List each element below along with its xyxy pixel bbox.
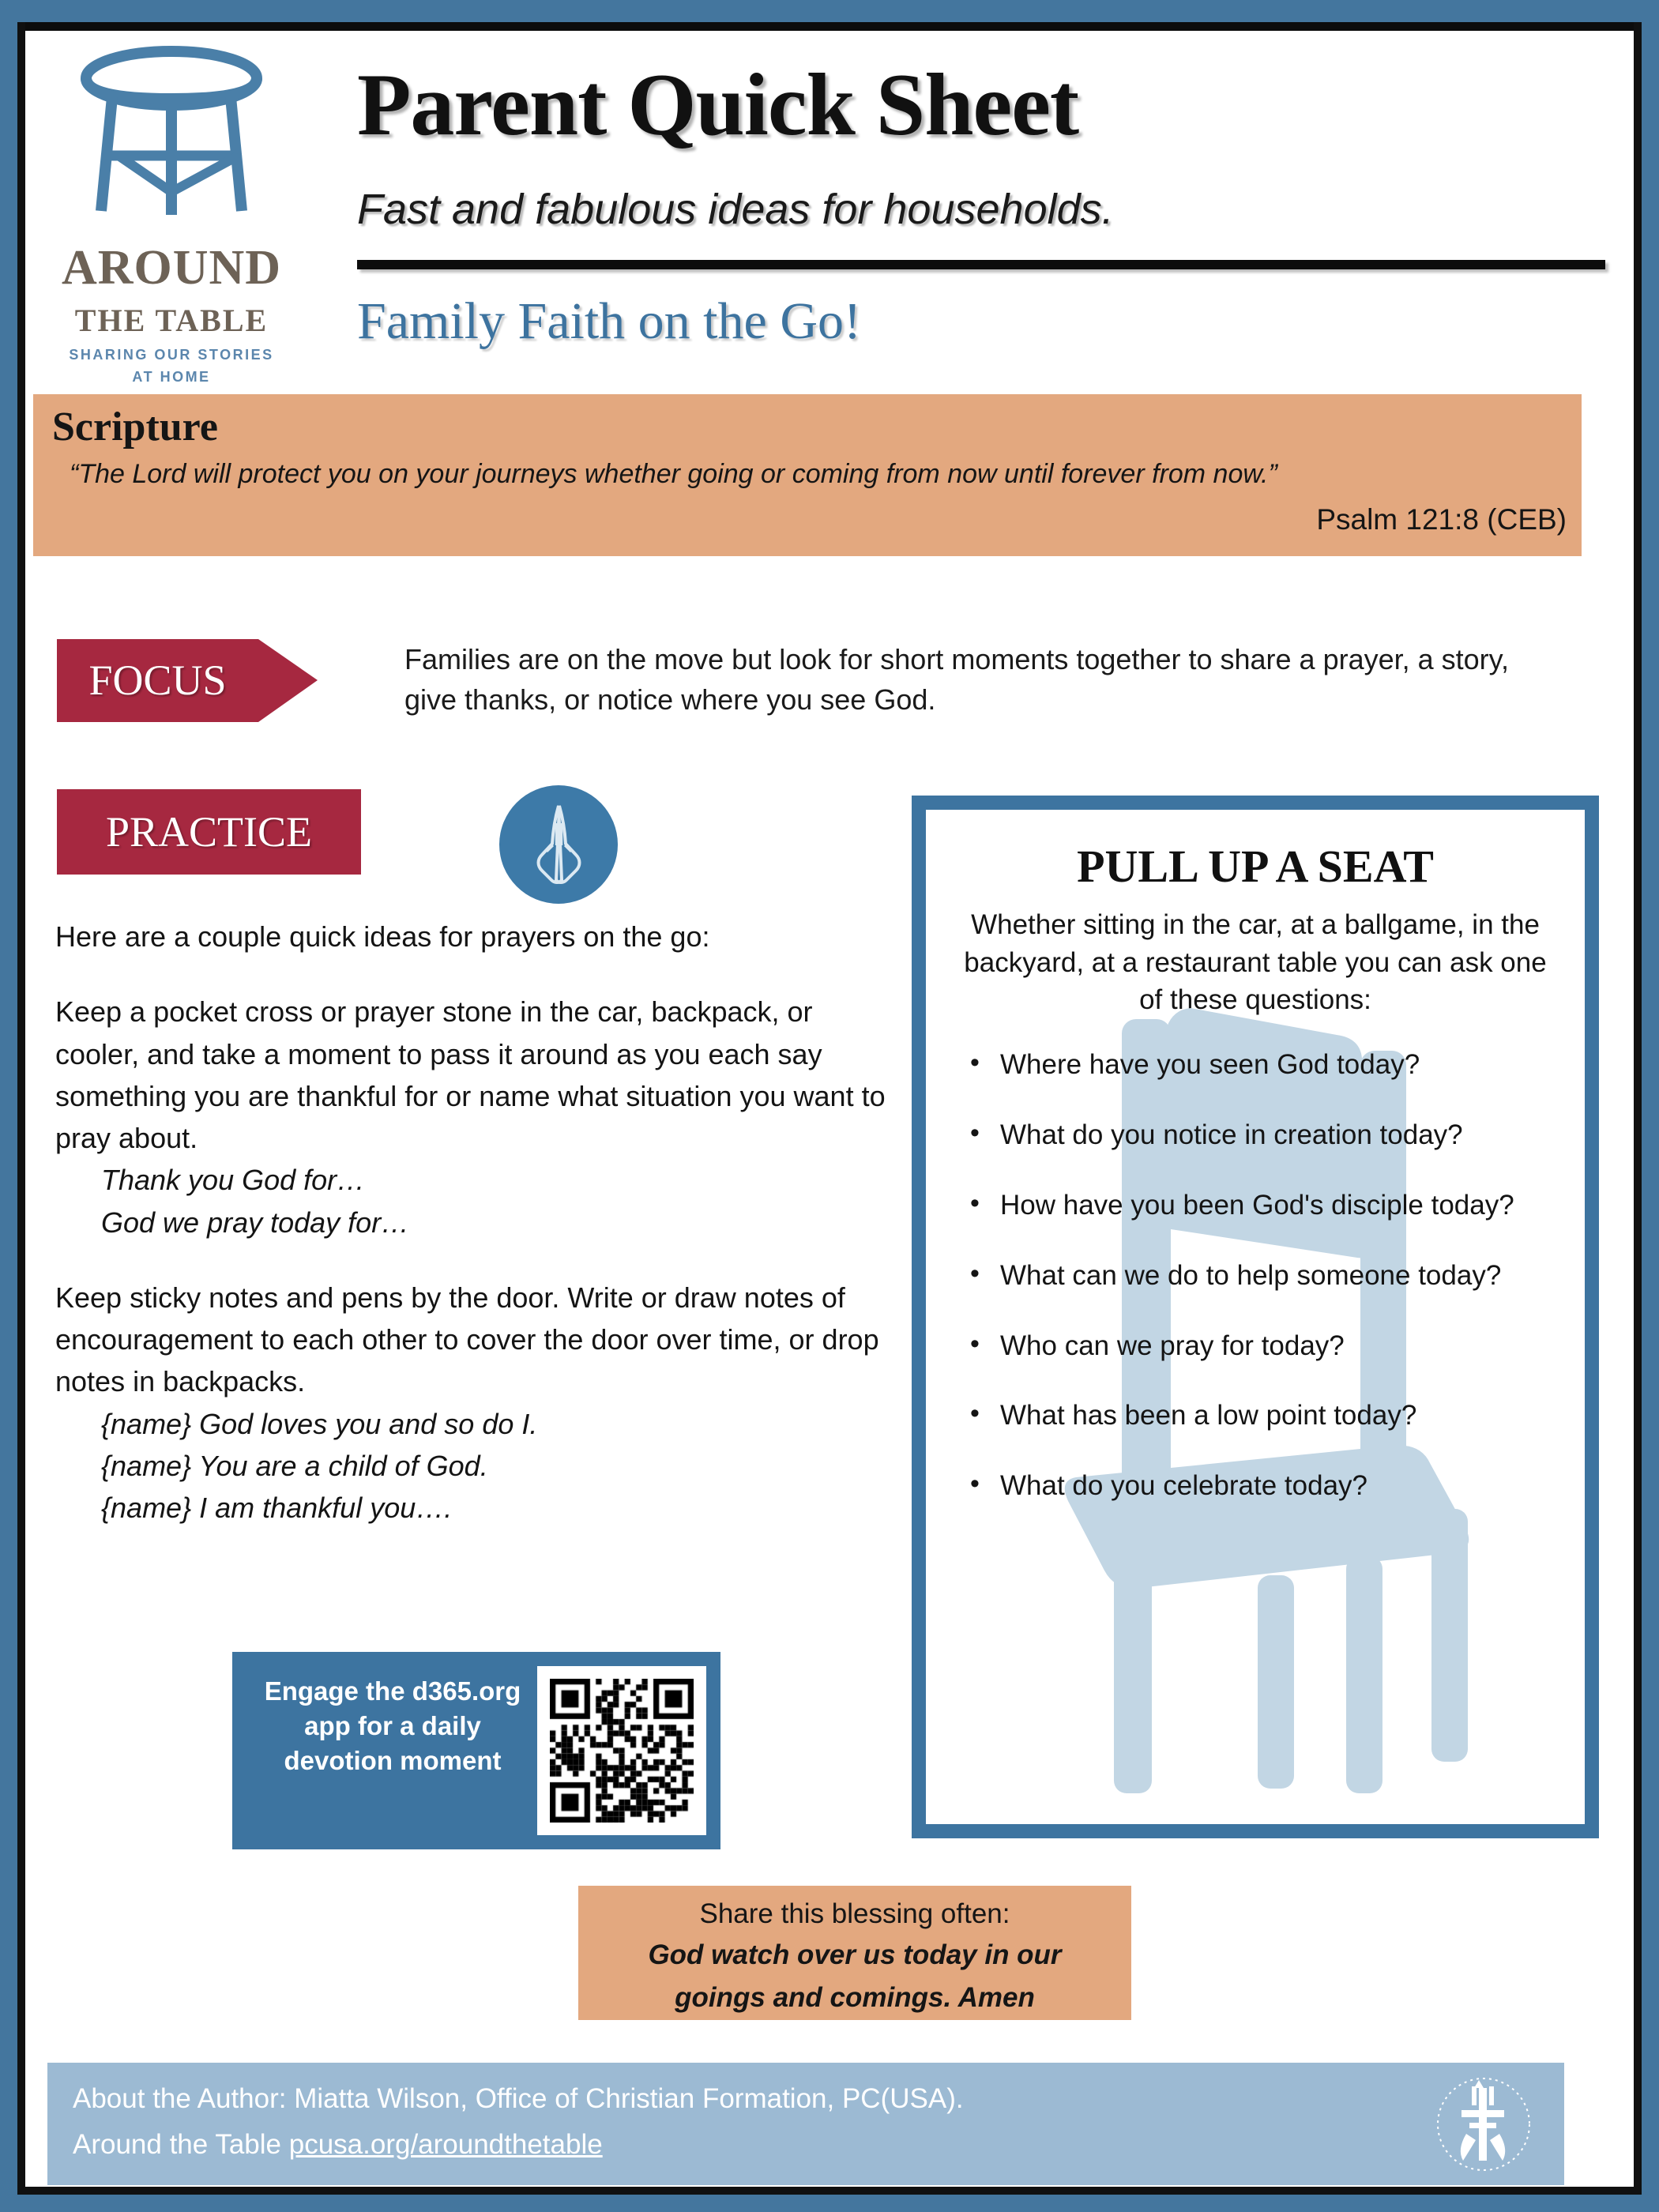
footer-series: Around the Table pcusa.org/aroundthetabl… (73, 2129, 603, 2161)
brand-tagline-line2: AT HOME (41, 369, 302, 386)
page-subtitle: Fast and fabulous ideas for households. (357, 185, 1114, 234)
top-blue-band (0, 0, 1659, 22)
round-table-icon (71, 45, 273, 223)
practice-idea-1: Keep a pocket cross or prayer stone in t… (55, 991, 893, 1159)
left-blue-frame (0, 22, 17, 2212)
list-item: How have you been God's disciple today? (964, 1187, 1588, 1224)
sheet-body: AROUND THE TABLE SHARING OUR STORIES AT … (25, 31, 1634, 2187)
right-black-rule (1634, 22, 1642, 2195)
right-blue-frame (1642, 22, 1659, 2212)
qr-promo-box[interactable]: Engage the d365.org app for a daily devo… (232, 1652, 720, 1849)
footer-series-label: Around the Table (73, 2129, 289, 2160)
focus-label: FOCUS (57, 639, 258, 722)
list-item: What do you celebrate today? (964, 1468, 1588, 1505)
bottom-blue-frame (0, 2195, 1659, 2212)
blessing-line-2: goings and comings. Amen (578, 1982, 1131, 2014)
pull-up-a-seat-question-list: Where have you seen God today? What do y… (964, 1047, 1588, 1538)
presbyterian-church-seal-icon (1435, 2075, 1533, 2173)
scripture-reference: Psalm 121:8 (CEB) (70, 503, 1567, 536)
list-item: Who can we pray for today? (964, 1328, 1588, 1365)
top-black-rule (0, 22, 1659, 31)
practice-idea-1-prompt-2: God we pray today for… (101, 1202, 893, 1243)
footer-author: About the Author: Miatta Wilson, Office … (73, 2083, 964, 2115)
list-item: What can we do to help someone today? (964, 1258, 1588, 1295)
focus-text: Families are on the move but look for sh… (404, 639, 1526, 720)
lesson-title: Family Faith on the Go! (357, 292, 861, 352)
praying-hands-icon (499, 785, 618, 904)
practice-body: Here are a couple quick ideas for prayer… (55, 916, 893, 1562)
focus-banner-arrow (258, 639, 318, 722)
qr-code-icon[interactable] (537, 1666, 706, 1835)
header-divider (357, 260, 1605, 269)
scripture-quote: “The Lord will protect you on your journ… (70, 459, 1567, 490)
pull-up-a-seat-intro: Whether sitting in the car, at a ballgam… (950, 906, 1561, 1019)
pull-up-a-seat-panel: PULL UP A SEAT Whether sitting in the ca… (912, 796, 1599, 1838)
brand-tagline-line1: SHARING OUR STORIES (41, 347, 302, 363)
qr-promo-label: Engage the d365.org app for a daily devo… (246, 1674, 539, 1779)
brand-logo: AROUND THE TABLE SHARING OUR STORIES AT … (41, 39, 302, 386)
footer-bar: About the Author: Miatta Wilson, Office … (47, 2063, 1564, 2185)
brand-name-line1: AROUND (41, 240, 302, 296)
practice-idea-2-prompt-1: {name} God loves you and so do I. (101, 1403, 893, 1445)
practice-intro: Here are a couple quick ideas for prayer… (55, 916, 893, 957)
focus-banner: FOCUS (57, 639, 318, 722)
bottom-black-rule (17, 2187, 1642, 2195)
parent-quick-sheet-page: AROUND THE TABLE SHARING OUR STORIES AT … (0, 0, 1659, 2212)
practice-idea-2-prompt-2: {name} You are a child of God. (101, 1445, 893, 1487)
blessing-lead: Share this blessing often: (578, 1898, 1131, 1930)
practice-idea-1-prompt-1: Thank you God for… (101, 1159, 893, 1201)
practice-label: PRACTICE (57, 789, 361, 875)
list-item: Where have you seen God today? (964, 1047, 1588, 1084)
practice-banner: PRACTICE (57, 789, 361, 875)
scripture-section: Scripture “The Lord will protect you on … (33, 394, 1582, 556)
blessing-line-1: God watch over us today in our (578, 1939, 1131, 1971)
page-title: Parent Quick Sheet (357, 55, 1078, 156)
left-black-rule (17, 22, 25, 2195)
brand-name-line2: THE TABLE (41, 302, 302, 339)
list-item: What do you notice in creation today? (964, 1117, 1588, 1154)
practice-idea-2-prompt-3: {name} I am thankful you…. (101, 1487, 893, 1529)
practice-idea-2: Keep sticky notes and pens by the door. … (55, 1277, 893, 1403)
blessing-box: Share this blessing often: God watch ove… (578, 1886, 1131, 2020)
scripture-heading: Scripture (52, 404, 218, 450)
list-item: What has been a low point today? (964, 1398, 1588, 1435)
footer-link[interactable]: pcusa.org/aroundthetable (289, 2129, 603, 2160)
pull-up-a-seat-heading: PULL UP A SEAT (926, 840, 1585, 893)
